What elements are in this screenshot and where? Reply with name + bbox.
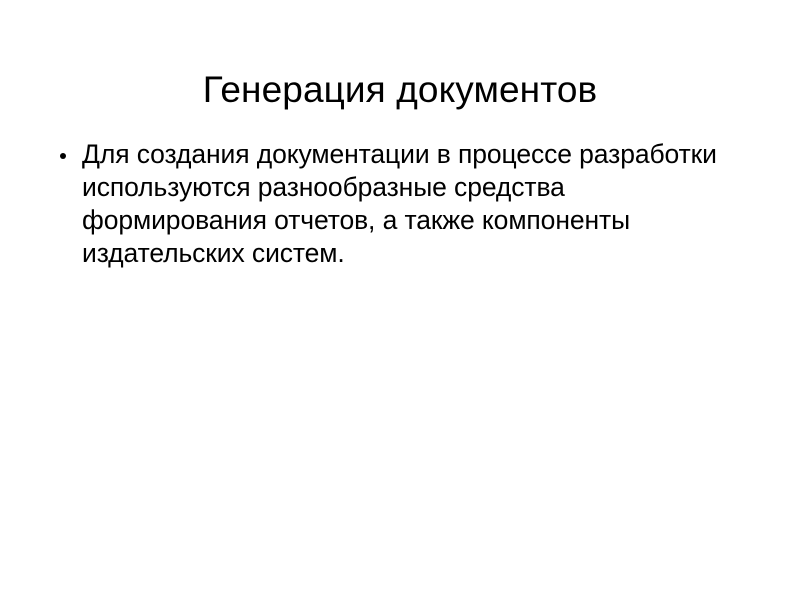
slide-body: Для создания документации в процессе раз… [56, 138, 746, 270]
bullet-dot-icon [60, 153, 66, 159]
list-item: Для создания документации в процессе раз… [56, 138, 746, 270]
bullet-item-text: Для создания документации в процессе раз… [82, 138, 746, 270]
page-title: Генерация документов [40, 69, 760, 112]
presentation-slide: Генерация документов Для создания докуме… [0, 0, 800, 600]
bullet-list: Для создания документации в процессе раз… [56, 138, 746, 270]
